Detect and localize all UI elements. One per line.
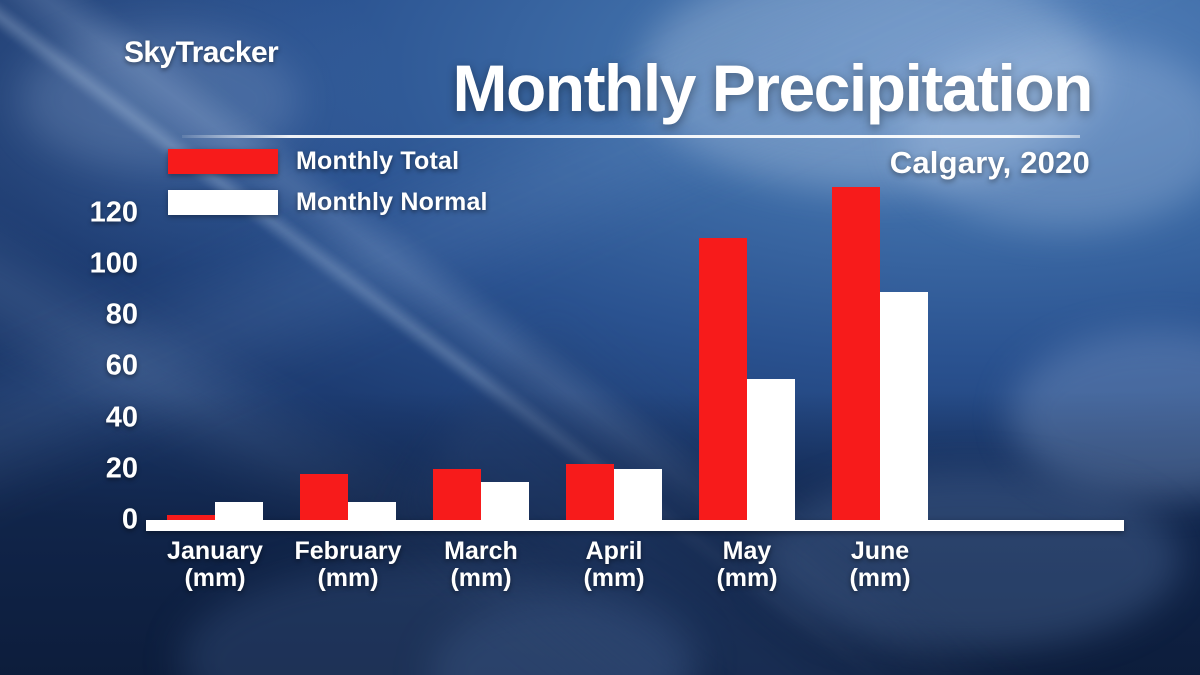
y-axis-tick-label: 80 xyxy=(106,299,138,332)
bar-may-total xyxy=(699,238,747,520)
y-axis-tick-label: 20 xyxy=(106,452,138,485)
bar-june-total xyxy=(832,187,880,520)
bar-february-normal xyxy=(348,502,396,520)
y-axis-tick-label: 100 xyxy=(90,248,138,281)
x-axis-label-may: May(mm) xyxy=(677,538,817,591)
bar-april-total xyxy=(566,464,614,520)
bar-march-normal xyxy=(481,482,529,520)
x-axis-label-march: March(mm) xyxy=(411,538,551,591)
bar-chart-plot: 020406080100120January(mm)February(mm)Ma… xyxy=(0,0,1200,675)
bar-january-total xyxy=(167,515,215,520)
x-axis-line xyxy=(146,520,1124,531)
bar-february-total xyxy=(300,474,348,520)
y-axis-tick-label: 60 xyxy=(106,350,138,383)
y-axis-tick-label: 0 xyxy=(122,504,138,537)
bar-may-normal xyxy=(747,379,795,520)
x-axis-label-february: February(mm) xyxy=(278,538,418,591)
x-axis-label-january: January(mm) xyxy=(145,538,285,591)
y-axis-tick-label: 120 xyxy=(90,196,138,229)
weather-graphic: SkyTracker Monthly Precipitation Calgary… xyxy=(0,0,1200,675)
x-axis-label-june: June(mm) xyxy=(810,538,950,591)
bar-january-normal xyxy=(215,502,263,520)
x-axis-label-april: April(mm) xyxy=(544,538,684,591)
bar-june-normal xyxy=(880,292,928,520)
y-axis-tick-label: 40 xyxy=(106,401,138,434)
bar-april-normal xyxy=(614,469,662,520)
bar-march-total xyxy=(433,469,481,520)
